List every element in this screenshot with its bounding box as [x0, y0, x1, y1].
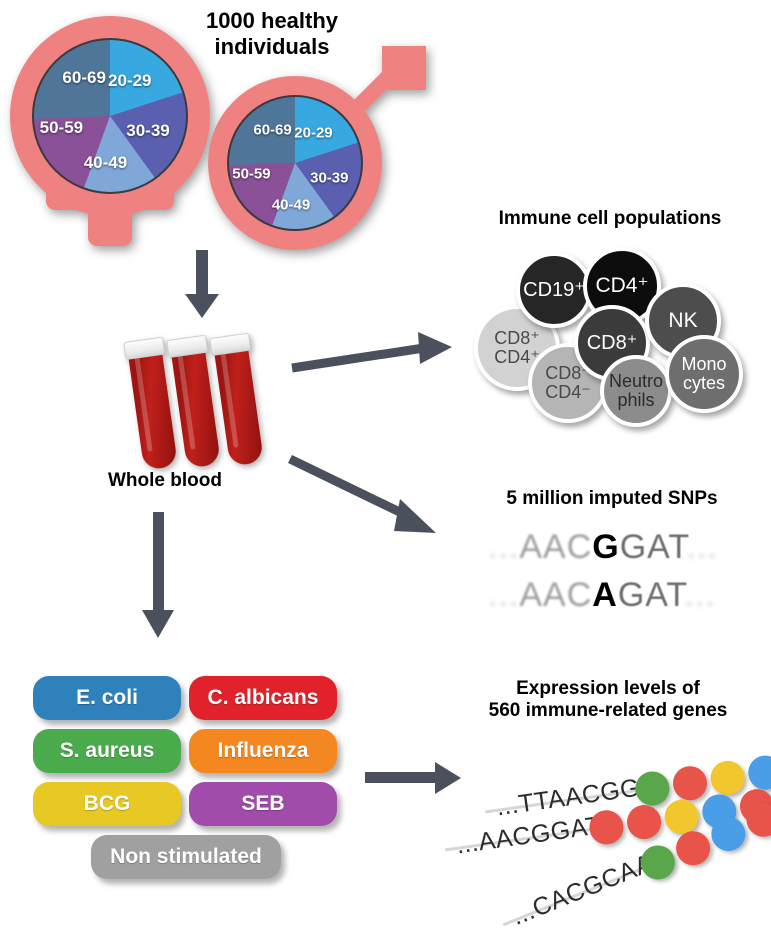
stimulus-s-aureus[interactable]: S. aureus [33, 729, 181, 773]
whole-blood-tubes [120, 335, 270, 465]
immune-cell-cluster: CD8⁺ CD4⁺ CD19⁺ CD8⁻ CD4⁻ CD4⁺ CD8⁺ Neut… [460, 245, 760, 415]
snp-sequences: ...AACGGAT... ...AACAGAT... [488, 528, 738, 620]
snp-variant-base: A [592, 576, 618, 614]
cell-monocytes[interactable]: Mono cytes [665, 335, 743, 413]
snp-sequence-row: ...AACGGAT... [488, 528, 718, 567]
age-label-30-39: 30-39 [126, 121, 169, 141]
snp-suffix-bases: GAT [618, 576, 685, 614]
age-label-20-29: 20-29 [108, 71, 151, 91]
rna-sequence: ...AACGGAT [455, 811, 604, 860]
age-label-male-30-39: 30-39 [310, 169, 348, 186]
age-label-60-69: 60-69 [62, 68, 105, 88]
female-symbol: 20-29 30-39 40-49 50-59 60-69 [10, 16, 210, 246]
arrow-blood-to-stimuli [140, 512, 178, 642]
male-symbol: 20-29 30-39 40-49 50-59 60-69 [202, 40, 432, 250]
rna-sequence: ...CACGCAA [508, 849, 657, 932]
arrow-blood-to-immune [290, 330, 460, 380]
stimulus-seb[interactable]: SEB [189, 782, 337, 826]
age-label-male-60-69: 60-69 [253, 122, 291, 139]
stimuli-panel: E. coli C. albicans S. aureus Influenza … [33, 676, 343, 896]
snp-sequence-row: ...AACAGAT... [488, 576, 716, 615]
age-label-male-40-49: 40-49 [272, 197, 310, 214]
snp-prefix-bases: AAC [519, 576, 592, 614]
age-label-40-49: 40-49 [84, 153, 127, 173]
cell-neutrophils[interactable]: Neutro phils [600, 355, 672, 427]
section-title-snps: 5 million imputed SNPs [462, 488, 762, 510]
snp-leading-dots: ... [488, 528, 519, 566]
age-pie-female: 20-29 30-39 40-49 50-59 60-69 [32, 38, 188, 194]
rna-bead [706, 812, 750, 856]
snp-prefix-bases: AAC [519, 528, 592, 566]
rna-bead [625, 803, 663, 841]
stimulus-non-stimulated[interactable]: Non stimulated [91, 835, 281, 879]
stimulus-e-coli[interactable]: E. coli [33, 676, 181, 720]
rna-bead [671, 826, 715, 870]
rna-bead [741, 798, 771, 842]
stimulus-influenza[interactable]: Influenza [189, 729, 337, 773]
stimulus-c-albicans[interactable]: C. albicans [189, 676, 337, 720]
rna-bead [746, 753, 771, 791]
section-title-expression: Expression levels of 560 immune-related … [452, 678, 764, 723]
snp-trailing-dots: ... [686, 528, 717, 566]
snp-leading-dots: ... [488, 576, 519, 614]
cell-cd19[interactable]: CD19⁺ [516, 252, 592, 328]
label-whole-blood: Whole blood [70, 470, 260, 492]
arrow-blood-to-snps [288, 455, 448, 545]
age-pie-male: 20-29 30-39 40-49 50-59 60-69 [227, 95, 363, 231]
age-label-50-59: 50-59 [40, 118, 83, 138]
age-label-male-20-29: 20-29 [294, 124, 332, 141]
snp-suffix-bases: GAT [620, 528, 687, 566]
section-title-immune: Immune cell populations [460, 208, 760, 230]
age-label-male-50-59: 50-59 [232, 165, 270, 182]
snp-variant-base: G [592, 528, 619, 566]
arrow-cohort-to-blood [185, 250, 219, 318]
snp-trailing-dots: ... [684, 576, 715, 614]
rna-strands: ...TTAACGG ...AACGGAT ...CACGCAA [455, 740, 771, 915]
stimulus-bcg[interactable]: BCG [33, 782, 181, 826]
